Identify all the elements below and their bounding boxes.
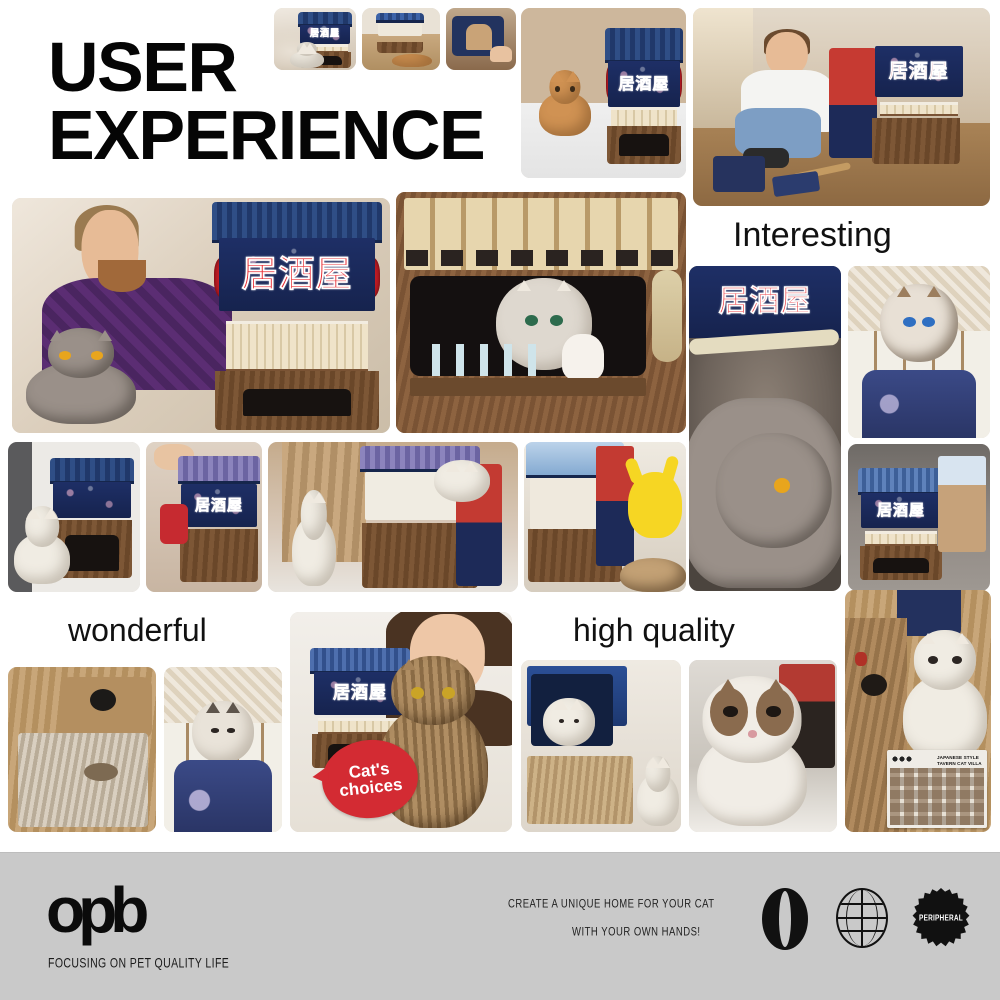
photo-top-right[interactable]: 居酒屋 (693, 8, 990, 206)
house-roof (212, 202, 382, 243)
peripheral-label: PERIPHERAL (919, 914, 963, 923)
cat-body (392, 54, 432, 67)
cat-eye-right (570, 86, 576, 92)
house-kanji: 居酒屋 (618, 76, 669, 92)
house-roof (178, 456, 260, 484)
photo-bot-2[interactable] (164, 667, 282, 832)
house-banner: 居酒屋 (861, 493, 940, 529)
cat-eye-right (227, 728, 236, 732)
cat-ear-left (402, 659, 416, 670)
brand-wordmark: opb (46, 878, 142, 942)
cat-eye-right (550, 315, 563, 326)
sticker-sheet-title: JAPANESE STYLE TAVERN CAT VILLA (937, 755, 983, 766)
photo-right-2[interactable] (848, 266, 990, 438)
cat-figure (392, 47, 432, 67)
cat-figure (26, 328, 136, 424)
cat-ear-right (44, 508, 58, 519)
eye-mark-icon (762, 888, 808, 950)
dog-body (620, 558, 686, 592)
cat-ear-left (550, 71, 564, 82)
cat-ear-left (446, 461, 460, 472)
izakaya-house-illustration: 居酒屋 (605, 28, 683, 164)
side-panel-card (938, 456, 986, 552)
cat-ear-left (921, 633, 935, 644)
house-kanji: 居酒屋 (195, 498, 243, 513)
cat-eye-right (442, 687, 455, 699)
panel-slot (84, 763, 118, 781)
house-banner: 居酒屋 (181, 484, 256, 527)
izakaya-house-illustration: 居酒屋 (833, 44, 963, 164)
cat-peeking (543, 698, 595, 746)
photo-mid-4[interactable] (524, 442, 686, 592)
peripheral-mark-icon: PERIPHERAL (912, 888, 970, 948)
cat-ear-right (927, 286, 941, 297)
footer-slogan-line-2: WITH YOUR OWN HANDS! (572, 925, 701, 939)
wall-sticker-red (855, 652, 867, 666)
photo-right-3[interactable]: 居酒屋 (848, 444, 990, 591)
cat-ear-right (226, 702, 240, 713)
cat-figure (292, 490, 336, 586)
house-kanji: 居酒屋 (310, 30, 340, 39)
globe-meridian-curved (846, 890, 879, 946)
cats-choices-line-2: choices (339, 776, 404, 800)
house-roof (605, 28, 683, 63)
cat-eye-left (555, 86, 561, 92)
photo-top-thumb-1[interactable]: 居酒屋 (274, 8, 356, 70)
izakaya-house-illustration: 居酒屋 (212, 202, 382, 430)
house-kanji: 居酒屋 (877, 503, 925, 518)
cat-ear-right (303, 43, 317, 54)
photo-bot-5[interactable] (689, 660, 837, 832)
page-title-line-2: EXPERIENCE (48, 102, 484, 170)
house-body (180, 529, 259, 582)
house-menu-strip (880, 102, 958, 116)
photo-top-thumb-3[interactable] (446, 8, 516, 70)
house-banner (378, 23, 422, 37)
lamp-row (406, 250, 676, 266)
cat-ear-right (656, 757, 670, 768)
cat-in-kimono (192, 701, 254, 763)
panel-opening (466, 24, 492, 50)
cat-ear-right (450, 659, 464, 670)
footer-slogan-line-1: CREATE A UNIQUE HOME FOR YOUR CAT (508, 897, 715, 911)
kimono-costume (174, 760, 272, 832)
cat-eye-left (59, 351, 71, 360)
photo-top-thumb-4[interactable]: 居酒屋 (521, 8, 686, 178)
brand-tagline: FOCUSING ON PET QUALITY LIFE (48, 956, 229, 971)
photo-mid-2[interactable]: 居酒屋 (146, 442, 262, 592)
photo-main-center[interactable] (396, 192, 686, 433)
cat-eye-left (928, 656, 938, 664)
photo-top-thumb-2[interactable] (362, 8, 440, 70)
cat-eye-left (903, 317, 915, 327)
photo-main-left[interactable]: 居酒屋 (12, 198, 390, 433)
mount-fuji-panel (829, 48, 877, 158)
cat-eye-right (774, 478, 790, 493)
cat-ear-right (955, 633, 969, 644)
cat-eye-right (91, 351, 103, 360)
cat-head (192, 701, 254, 763)
cat-ear-right (570, 699, 584, 710)
photo-mid-1[interactable] (8, 442, 140, 592)
cat-figure (14, 506, 70, 584)
cat-ear-left (554, 699, 568, 710)
house-door (873, 558, 928, 574)
cat-ear-right (98, 330, 112, 341)
house-banner: 居酒屋 (608, 61, 680, 107)
cat-ear-left (517, 280, 531, 291)
panel-hole (90, 689, 116, 711)
wall-sticker-dark (861, 674, 887, 696)
cat-ear-right (566, 71, 580, 82)
cat-figure (290, 42, 324, 68)
cat-eye-left (723, 706, 737, 717)
photo-mid-3[interactable] (268, 442, 518, 592)
counter-shelf (410, 378, 646, 396)
cat-figure (539, 70, 591, 136)
house-banner: 居酒屋 (875, 46, 963, 96)
hand (490, 46, 512, 62)
sake-bottles-row (432, 344, 552, 376)
house-menu-strip (226, 321, 369, 371)
cat-head (715, 433, 832, 548)
cat-nose (748, 730, 758, 738)
cat-ear-left (50, 330, 64, 341)
sticker-sheet: JAPANESE STYLE TAVERN CAT VILLA (887, 750, 987, 828)
caption-high-quality: high quality (573, 612, 735, 649)
person-beard (98, 260, 146, 292)
shimenawa-rope (652, 270, 682, 362)
house-roof (858, 468, 944, 495)
house-roof (50, 458, 134, 484)
caption-wonderful: wonderful (68, 612, 207, 649)
cat-ear-left (206, 702, 220, 713)
cat-eye-left (211, 728, 220, 732)
caption-interesting: Interesting (733, 216, 892, 255)
cat-ear-left (721, 679, 735, 690)
cat-standing (637, 756, 679, 826)
photo-bot-6[interactable]: JAPANESE STYLE TAVERN CAT VILLA (845, 590, 991, 832)
house-door (619, 134, 669, 156)
izakaya-banner-top: 居酒屋 (689, 266, 841, 338)
cat-portrait (697, 676, 807, 826)
cat-ear-right (557, 280, 571, 291)
cat-ear-right (464, 461, 478, 472)
cat-in-kimono (880, 284, 958, 362)
dog-figure (620, 540, 686, 592)
photo-bot-1[interactable] (8, 667, 156, 832)
photo-right-1[interactable]: 居酒屋 (689, 266, 841, 591)
izakaya-house-illustration: 居酒屋 (178, 456, 260, 582)
cat-ear-left (897, 286, 911, 297)
house-kanji: 居酒屋 (719, 287, 812, 317)
house-roof (298, 12, 352, 27)
cat-ear-left (26, 508, 40, 519)
cat-ear-right (769, 679, 783, 690)
hanging-tag (160, 504, 188, 544)
white-kitten (903, 630, 987, 760)
house-door (65, 535, 119, 571)
cat-peeking (434, 460, 490, 502)
poster-canvas: USER EXPERIENCE 居酒屋 (0, 0, 1000, 1000)
cat-eye-right (766, 706, 780, 717)
scratch-pad (527, 756, 633, 824)
cat-eye-right (952, 656, 962, 664)
house-door (243, 389, 352, 416)
cat-eye-left (525, 315, 538, 326)
house-body (872, 118, 960, 164)
loose-part-blue (713, 156, 765, 192)
opb-dots-icon (892, 756, 912, 762)
cat-ear-right (312, 492, 326, 503)
cat-head (880, 284, 958, 362)
sticker-sheet-grid (890, 768, 984, 825)
cat-eye-right (922, 317, 934, 327)
cat-head (434, 460, 490, 502)
footer-bar: opb FOCUSING ON PET QUALITY LIFE CREATE … (0, 852, 1000, 1000)
house-roof (376, 13, 424, 23)
photo-bot-3[interactable]: 居酒屋 Cat's choices (290, 612, 512, 832)
globe-mark-icon (836, 888, 888, 948)
cardboard-corrugation (18, 733, 148, 827)
house-banner: 居酒屋 (219, 238, 375, 311)
kimono-costume (862, 370, 976, 438)
maneki-neko-sticker (562, 334, 604, 380)
photo-bot-4[interactable] (521, 660, 681, 832)
house-kanji: 居酒屋 (241, 257, 352, 293)
house-menu-strip (865, 531, 937, 547)
izakaya-house-illustration: 居酒屋 (858, 468, 944, 580)
house-kanji: 居酒屋 (889, 62, 949, 81)
cat-figure (689, 338, 841, 588)
